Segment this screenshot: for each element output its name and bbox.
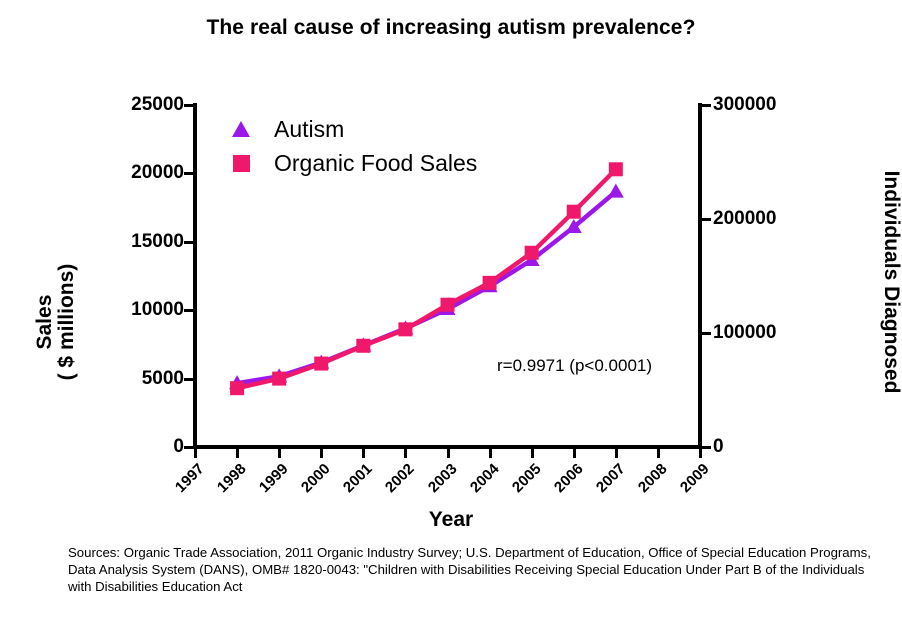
- series-marker-square: [441, 298, 455, 312]
- sources-note: Sources: Organic Trade Association, 2011…: [68, 544, 878, 595]
- series-marker-square: [398, 322, 412, 336]
- series-marker-square: [525, 246, 539, 260]
- series-marker-square: [272, 372, 286, 386]
- chart-root: The real cause of increasing autism prev…: [0, 0, 902, 630]
- series-plot: [0, 0, 902, 630]
- series-marker-square: [609, 162, 623, 176]
- series-marker-square: [356, 339, 370, 353]
- sources-line: with Disabilities Education Act: [68, 578, 878, 595]
- series-marker-triangle: [608, 184, 624, 198]
- series-marker-square: [483, 276, 497, 290]
- series-line-1: [237, 169, 616, 388]
- series-marker-square: [230, 381, 244, 395]
- series-line-0: [237, 192, 616, 384]
- sources-line: Sources: Organic Trade Association, 2011…: [68, 544, 878, 578]
- series-marker-square: [314, 357, 328, 371]
- series-marker-square: [567, 205, 581, 219]
